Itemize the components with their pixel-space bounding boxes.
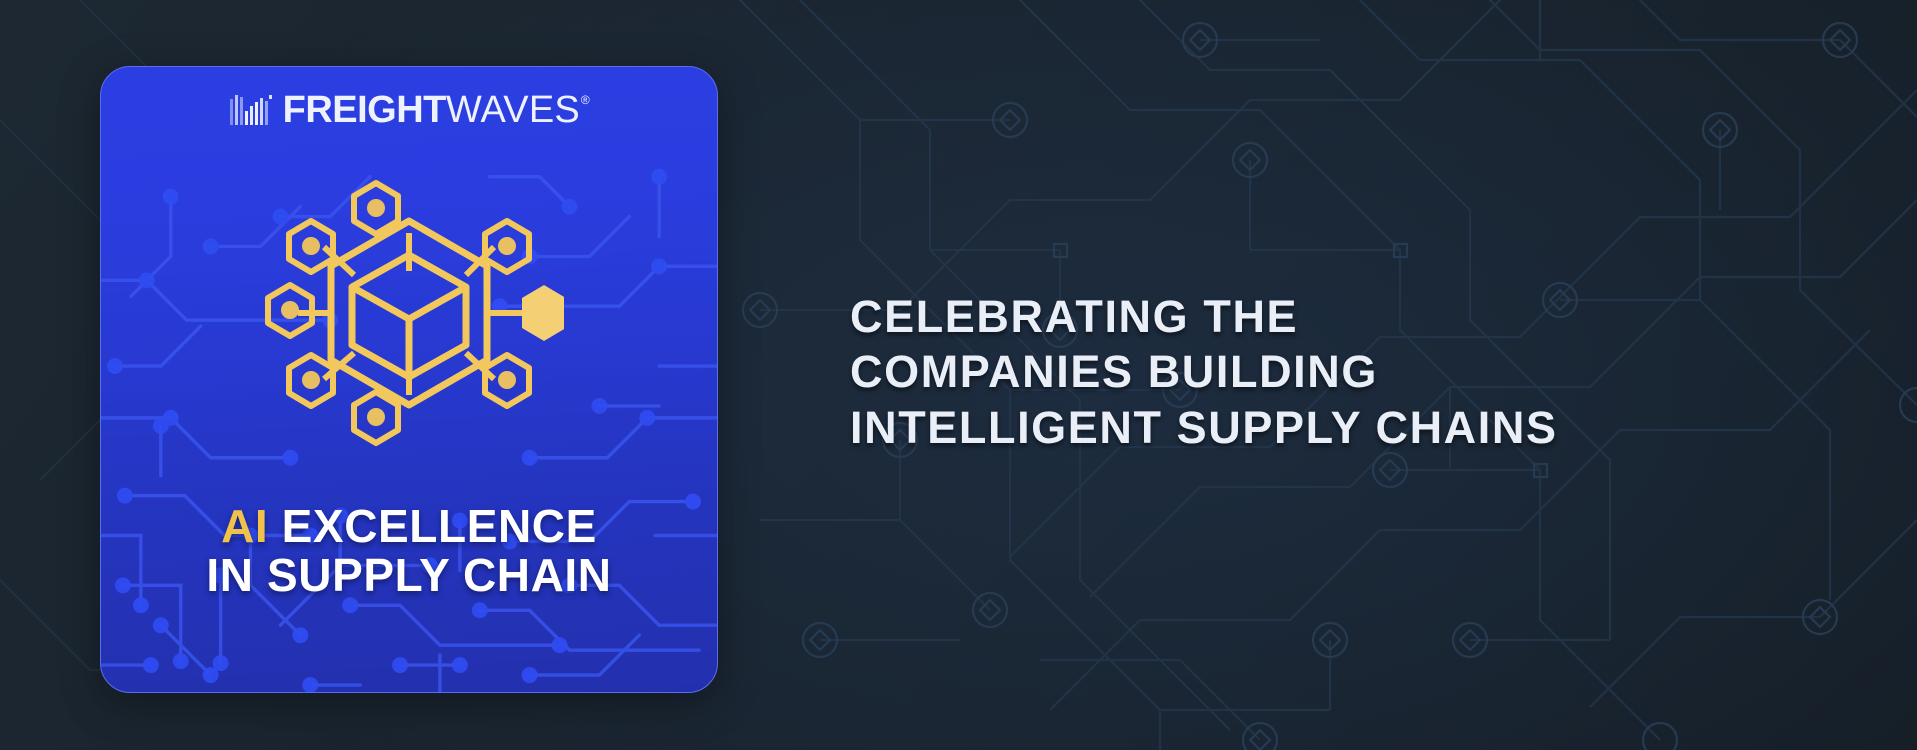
freightwaves-bars-mark — [230, 95, 272, 125]
registered-mark-icon: ® — [581, 94, 589, 106]
card-title-line-2: IN SUPPLY CHAIN — [101, 551, 717, 600]
headline: CELEBRATING THE COMPANIES BUILDING INTEL… — [850, 289, 1860, 455]
card-title: AI EXCELLENCE IN SUPPLY CHAIN — [101, 502, 717, 600]
ai-accent-text: AI — [221, 500, 268, 552]
award-banner: FREIGHTWAVES® — [0, 0, 1917, 750]
freightwaves-logo: FREIGHTWAVES® — [101, 91, 717, 129]
card-title-line-1: AI EXCELLENCE — [101, 502, 717, 551]
logo-word-bold: FREIGHT — [283, 91, 446, 129]
headline-line-3: INTELLIGENT SUPPLY CHAINS — [850, 400, 1860, 455]
headline-line-2: COMPANIES BUILDING — [850, 344, 1860, 399]
card-title-line-1-rest: EXCELLENCE — [268, 500, 597, 552]
hexagon-network-cube-icon — [254, 163, 564, 463]
headline-line-1: CELEBRATING THE — [850, 289, 1860, 344]
logo-word-light: WAVES — [446, 91, 580, 129]
award-card: FREIGHTWAVES® — [100, 66, 718, 693]
